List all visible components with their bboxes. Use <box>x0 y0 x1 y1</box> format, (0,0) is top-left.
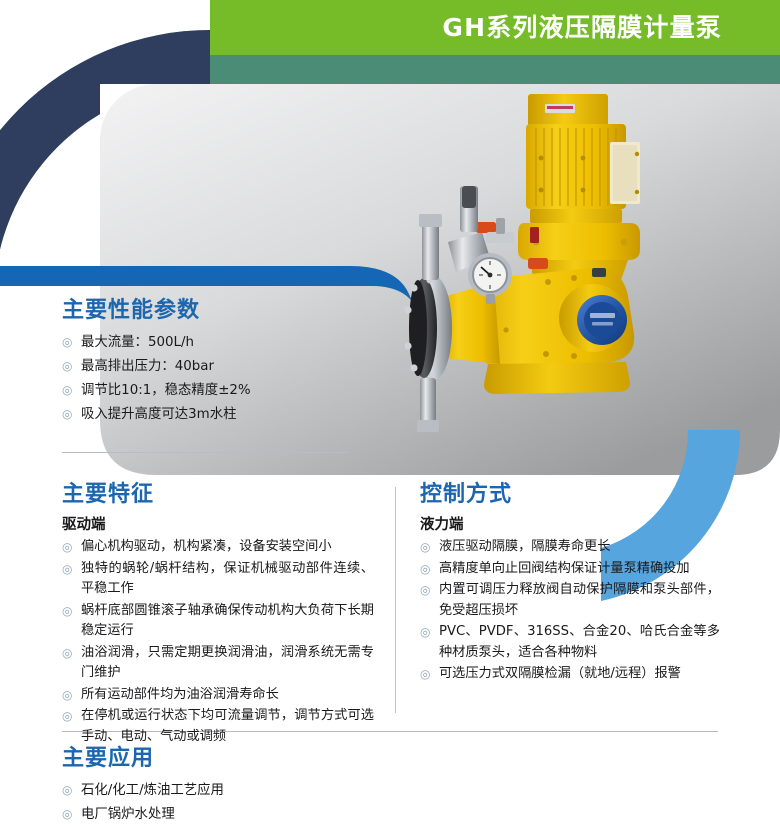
list-item-text: 最大流量：500L/h <box>81 335 194 350</box>
pressure-gauge-hub <box>488 273 493 278</box>
gearbox-bolt-2 <box>621 239 628 246</box>
list-item: ◎ 油浴润滑，只需定期更换润滑油，润滑系统无需专门维护 <box>62 643 374 684</box>
bullet-icon: ◎ <box>420 622 433 643</box>
divider-between-columns <box>395 487 396 713</box>
gearbox-sight-glass <box>530 227 539 243</box>
air-bleed-stem <box>496 218 505 234</box>
control-subtitle: 液力端 <box>420 515 720 535</box>
list-item: ◎ 最大流量：500L/h <box>62 331 362 354</box>
bullet-icon: ◎ <box>420 537 433 558</box>
list-item: ◎ 在停机或运行状态下均可流量调节，调节方式可选手动、电动、气动或调频 <box>62 706 374 747</box>
relief-valve-cap-red-2 <box>528 258 548 269</box>
pump-base <box>484 362 630 394</box>
bullet-icon: ◎ <box>420 559 433 580</box>
features-list: ◎ 偏心机构驱动，机构紧凑，设备安装空间小 ◎ 独特的蜗轮/蜗杆结构，保证机械驱… <box>62 537 374 747</box>
green-banner-round <box>210 0 240 55</box>
list-item: ◎ 电厂锅炉水处理 <box>62 803 462 826</box>
product-datasheet-page: GH系列液压隔膜计量泵 <box>0 0 780 830</box>
motor-junction-box-lid <box>613 145 637 201</box>
list-item-text: 电厂锅炉水处理 <box>81 807 175 822</box>
product-photo-metering-pump <box>378 82 708 442</box>
list-item: ◎ 独特的蜗轮/蜗杆结构，保证机械驱动部件连续、平稳工作 <box>62 559 374 600</box>
discharge-valve-cap <box>419 214 442 227</box>
applications-section-title: 主要应用 <box>62 745 462 773</box>
list-item: ◎ 高精度单向止回阀结构保证计量泵精确投加 <box>420 559 720 580</box>
bullet-icon: ◎ <box>420 664 433 685</box>
list-item-text: PVC、PVDF、316SS、合金20、哈氏合金等多种材质泵头，适合各种物料 <box>439 624 720 660</box>
control-section-title: 控制方式 <box>420 481 720 509</box>
bullet-icon: ◎ <box>62 779 75 802</box>
list-item-text: 所有运动部件均为油浴润滑寿命长 <box>81 687 279 702</box>
list-item: ◎ 液压驱动隔膜，隔膜寿命更长 <box>420 537 720 558</box>
list-item: ◎ 石化/化工/炼油工艺应用 <box>62 779 462 802</box>
bullet-icon: ◎ <box>62 355 75 378</box>
list-item-text: 液压驱动隔膜，隔膜寿命更长 <box>439 539 610 554</box>
stroke-adjust-knob <box>592 268 606 277</box>
relief-valve-cap-red <box>476 222 496 233</box>
bullet-icon: ◎ <box>62 643 75 664</box>
applications-section: 主要应用 ◎ 石化/化工/炼油工艺应用 ◎ 电厂锅炉水处理 <box>62 745 462 827</box>
bullet-icon: ◎ <box>62 537 75 558</box>
motor-nameplate-stripe <box>547 106 573 109</box>
bullet-icon: ◎ <box>62 601 75 622</box>
bullet-icon: ◎ <box>62 403 75 426</box>
bullet-icon: ◎ <box>62 803 75 826</box>
list-item-text: 内置可调压力释放阀自动保护隔膜和泵头部件，免受超压损坏 <box>439 582 720 618</box>
pump-head-face <box>409 280 427 376</box>
list-item-text: 蜗杆底部圆锥滚子轴承确保传动机构大负荷下长期稳定运行 <box>81 603 374 639</box>
stroke-adjust-cap-inner <box>584 302 620 338</box>
features-subtitle: 驱动端 <box>62 515 374 535</box>
list-item: ◎ PVC、PVDF、316SS、合金20、哈氏合金等多种材质泵头，适合各种物料 <box>420 622 720 663</box>
suction-valve-stack <box>420 378 436 424</box>
stroke-adjust-label <box>590 313 615 318</box>
page-title: GH系列液压隔膜计量泵 <box>442 11 722 45</box>
motor-flange <box>530 209 622 223</box>
control-list: ◎ 液压驱动隔膜，隔膜寿命更长 ◎ 高精度单向止回阀结构保证计量泵精确投加 ◎ … <box>420 537 720 685</box>
control-section: 控制方式 液力端 ◎ 液压驱动隔膜，隔膜寿命更长 ◎ 高精度单向止回阀结构保证计… <box>420 481 720 686</box>
discharge-valve-stack <box>422 224 439 280</box>
suction-valve-cap <box>417 420 439 432</box>
list-item: ◎ 偏心机构驱动，机构紧凑，设备安装空间小 <box>62 537 374 558</box>
list-item: ◎ 内置可调压力释放阀自动保护隔膜和泵头部件，免受超压损坏 <box>420 580 720 621</box>
features-section: 主要特征 驱动端 ◎ 偏心机构驱动，机构紧凑，设备安装空间小 ◎ 独特的蜗轮/蜗… <box>62 481 374 748</box>
applications-list: ◎ 石化/化工/炼油工艺应用 ◎ 电厂锅炉水处理 <box>62 779 462 826</box>
spec-section: 主要性能参数 ◎ 最大流量：500L/h ◎ 最高排出压力：40bar ◎ 调节… <box>62 297 362 427</box>
stroke-adjust-label-2 <box>592 322 613 326</box>
bullet-icon: ◎ <box>62 559 75 580</box>
bullet-icon: ◎ <box>62 706 75 727</box>
list-item: ◎ 吸入提升高度可达3m水柱 <box>62 403 362 426</box>
bullet-icon: ◎ <box>420 580 433 601</box>
list-item: ◎ 调节比10:1，稳态精度±2% <box>62 379 362 402</box>
list-item: ◎ 所有运动部件均为油浴润滑寿命长 <box>62 685 374 706</box>
bullet-icon: ◎ <box>62 685 75 706</box>
list-item-text: 吸入提升高度可达3m水柱 <box>81 407 236 422</box>
list-item-text: 偏心机构驱动，机构紧凑，设备安装空间小 <box>81 539 332 554</box>
oil-fill-tube-dark <box>462 186 476 208</box>
list-item: ◎ 蜗杆底部圆锥滚子轴承确保传动机构大负荷下长期稳定运行 <box>62 601 374 642</box>
list-item-text: 油浴润滑，只需定期更换润滑油，润滑系统无需专门维护 <box>81 645 374 681</box>
list-item: ◎ 最高排出压力：40bar <box>62 355 362 378</box>
spec-list: ◎ 最大流量：500L/h ◎ 最高排出压力：40bar ◎ 调节比10:1，稳… <box>62 331 362 426</box>
list-item: ◎ 可选压力式双隔膜检漏（就地/远程）报警 <box>420 664 720 685</box>
divider-above-features <box>62 452 348 453</box>
pressure-gauge-stem <box>486 294 495 304</box>
list-item-text: 可选压力式双隔膜检漏（就地/远程）报警 <box>439 666 681 681</box>
list-item-text: 石化/化工/炼油工艺应用 <box>81 783 224 798</box>
list-item-text: 独特的蜗轮/蜗杆结构，保证机械驱动部件连续、平稳工作 <box>81 561 374 597</box>
spec-section-title: 主要性能参数 <box>62 297 362 325</box>
bullet-icon: ◎ <box>62 379 75 402</box>
list-item-text: 最高排出压力：40bar <box>81 359 214 374</box>
list-item-text: 调节比10:1，稳态精度±2% <box>81 383 251 398</box>
list-item-text: 在停机或运行状态下均可流量调节，调节方式可选手动、电动、气动或调频 <box>81 708 374 744</box>
bullet-icon: ◎ <box>62 331 75 354</box>
list-item-text: 高精度单向止回阀结构保证计量泵精确投加 <box>439 561 690 576</box>
features-section-title: 主要特征 <box>62 481 374 509</box>
